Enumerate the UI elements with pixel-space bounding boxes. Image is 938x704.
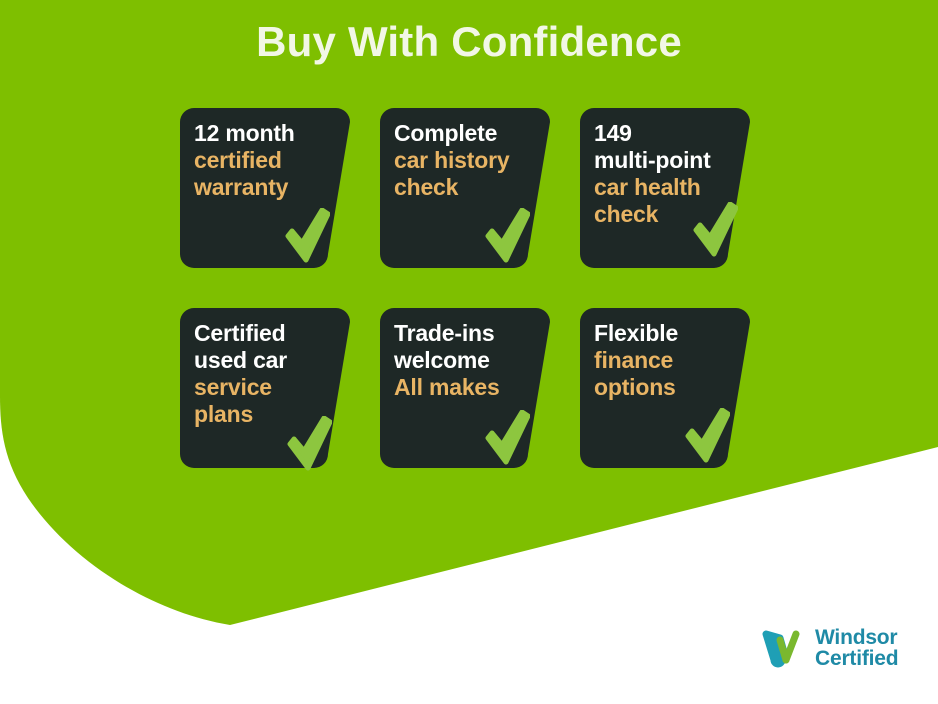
card-text: Complete car history check — [394, 120, 532, 201]
feature-card-history-check[interactable]: Complete car history check — [380, 108, 550, 268]
card-line-tan: car health — [594, 174, 732, 201]
check-mark-icon — [684, 408, 730, 464]
card-line-white: welcome — [394, 347, 532, 374]
card-line-white: Flexible — [594, 320, 732, 347]
feature-card-health-check[interactable]: 149 multi-point car health check — [580, 108, 750, 268]
card-line-tan: All makes — [394, 374, 532, 401]
check-mark-icon — [286, 416, 332, 472]
feature-card-row-bottom: Certified used car service plans Trade-i… — [180, 308, 750, 468]
card-line-white: used car — [194, 347, 332, 374]
page-title: Buy With Confidence — [0, 18, 938, 66]
card-line-white: Trade-ins — [394, 320, 532, 347]
feature-card-finance[interactable]: Flexible finance options — [580, 308, 750, 468]
feature-card-row-top: 12 month certified warranty Complete car… — [180, 108, 750, 268]
promo-banner: Buy With Confidence 12 month certified w… — [0, 0, 938, 704]
card-text: Trade-ins welcome All makes — [394, 320, 532, 401]
card-line-white: Certified — [194, 320, 332, 347]
card-line-tan: options — [594, 374, 732, 401]
card-text: Flexible finance options — [594, 320, 732, 401]
card-line-tan: service — [194, 374, 332, 401]
card-line-white: Complete — [394, 120, 532, 147]
card-line-white: 12 month — [194, 120, 332, 147]
card-line-tan: check — [394, 174, 532, 201]
check-mark-icon — [692, 202, 738, 258]
feature-card-trade-ins[interactable]: Trade-ins welcome All makes — [380, 308, 550, 468]
card-line-white: multi-point — [594, 147, 732, 174]
card-line-tan: certified — [194, 147, 332, 174]
brand-name-line1: Windsor — [815, 627, 898, 648]
card-line-tan: warranty — [194, 174, 332, 201]
brand-logo[interactable]: Windsor Certified — [762, 626, 898, 670]
feature-card-warranty[interactable]: 12 month certified warranty — [180, 108, 350, 268]
check-mark-icon — [484, 410, 530, 466]
brand-name-line2: Certified — [815, 648, 898, 669]
check-mark-icon — [284, 208, 330, 264]
card-line-tan: finance — [594, 347, 732, 374]
card-text: 12 month certified warranty — [194, 120, 332, 201]
feature-card-service-plans[interactable]: Certified used car service plans — [180, 308, 350, 468]
card-text: Certified used car service plans — [194, 320, 332, 429]
brand-logo-wordmark: Windsor Certified — [815, 627, 898, 670]
card-line-tan: car history — [394, 147, 532, 174]
windsor-w-icon — [762, 626, 806, 670]
feature-card-grid: 12 month certified warranty Complete car… — [180, 108, 750, 468]
card-line-white: 149 — [594, 120, 732, 147]
check-mark-icon — [484, 208, 530, 264]
